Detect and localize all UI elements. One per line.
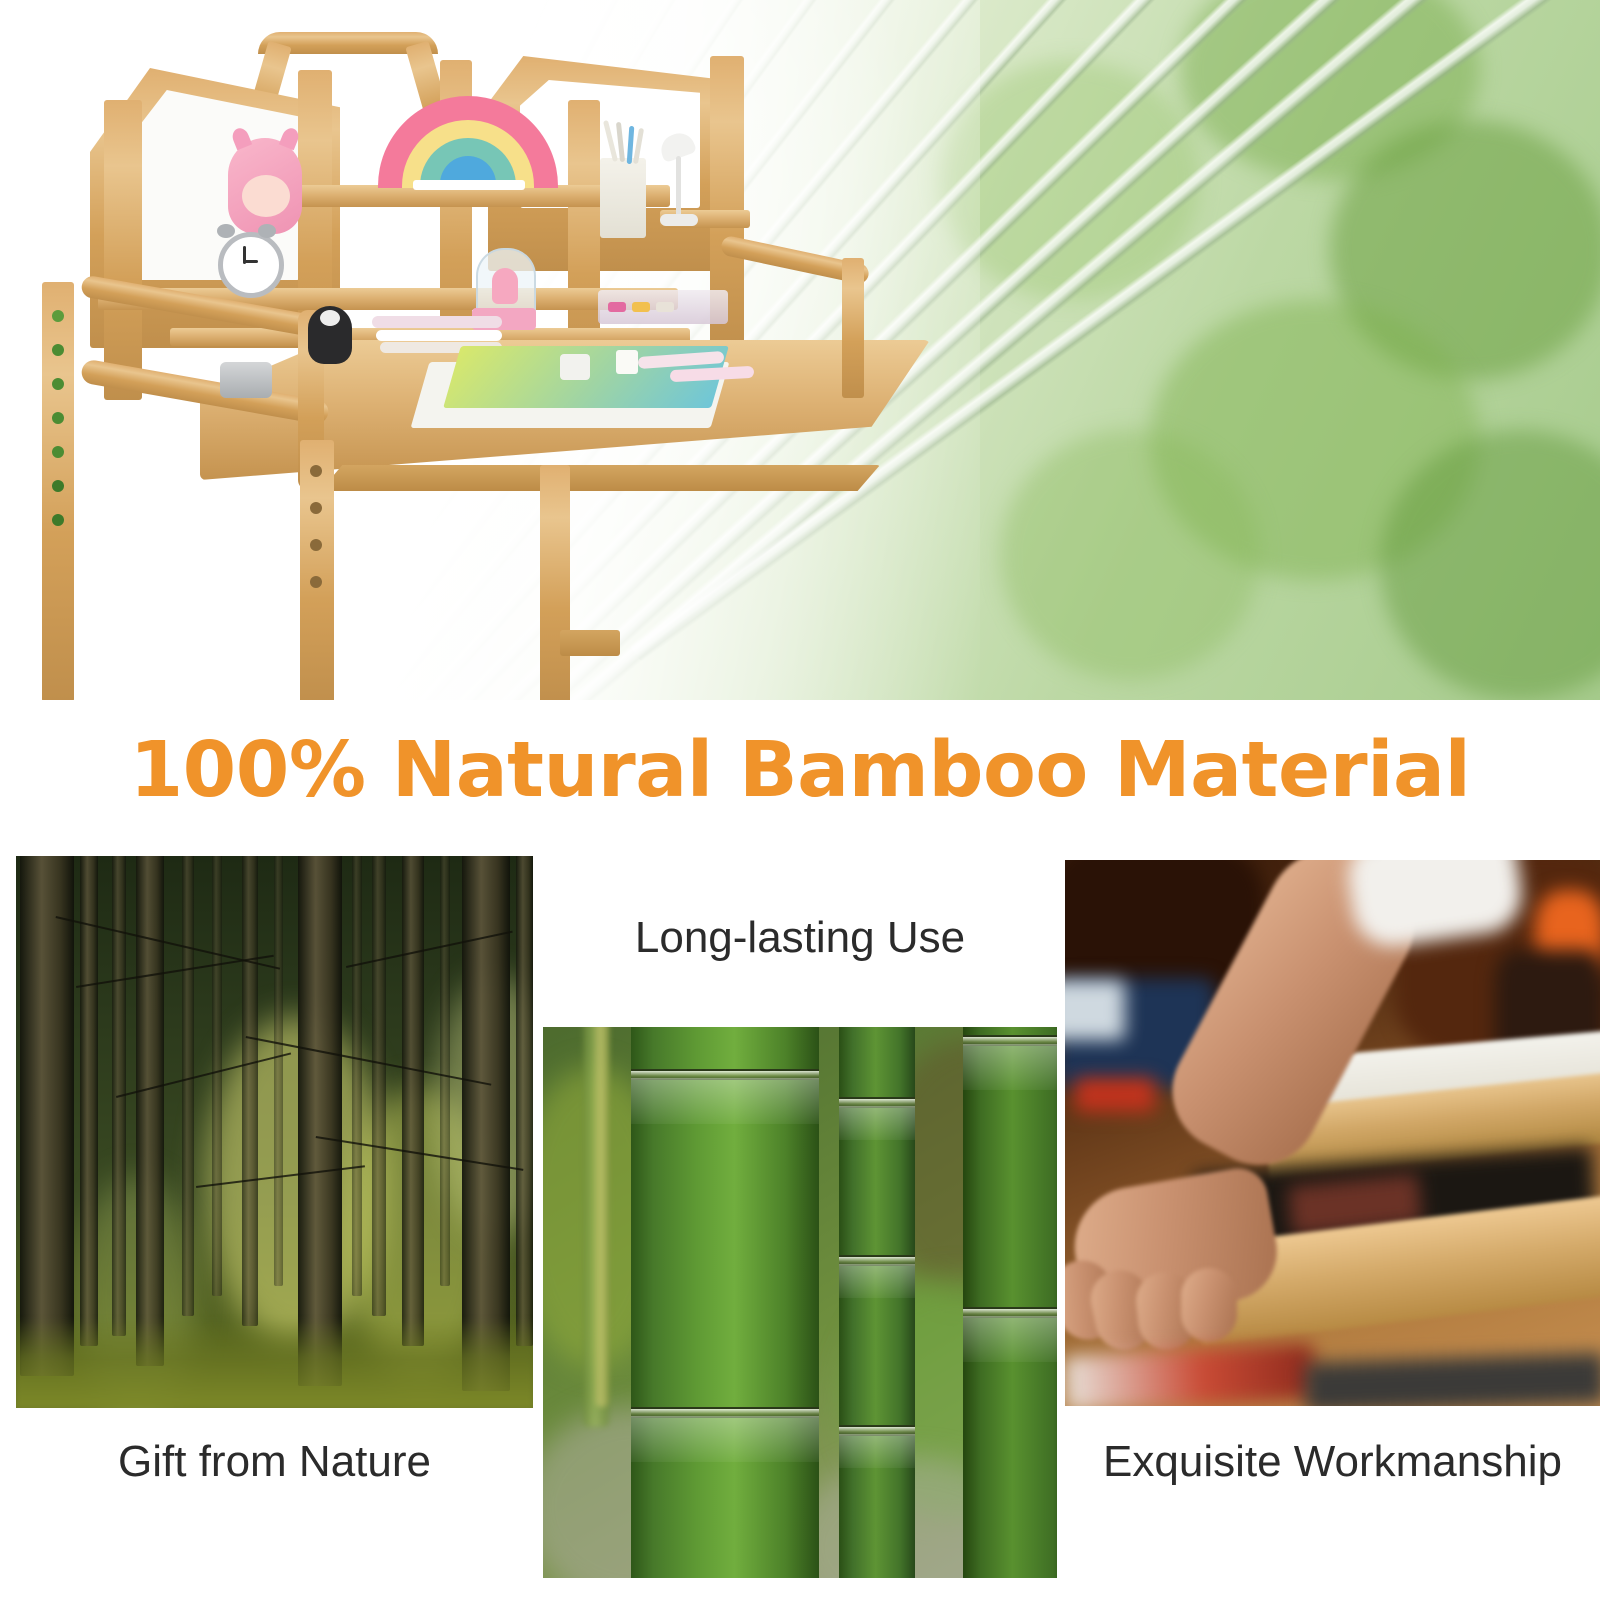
- height-adjust-hole: [52, 378, 64, 390]
- desk-right-rail-post: [842, 258, 864, 398]
- panel-long-lasting-use: [543, 1027, 1057, 1578]
- desk-left-post: [104, 100, 142, 400]
- bamboo-node-band: [839, 1434, 915, 1468]
- desk-cross-brace: [560, 630, 620, 656]
- pen-holder: [600, 158, 646, 238]
- book-illustration: [560, 354, 590, 380]
- bamboo-culm-right: [963, 1027, 1057, 1578]
- desk-leg-back-right: [540, 465, 570, 700]
- forest-trunk: [20, 856, 74, 1376]
- desk-lamp-base: [660, 214, 698, 226]
- bamboo-culm-middle: [839, 1027, 915, 1578]
- desk-top-edge: [320, 465, 880, 491]
- forest-trunk: [136, 856, 164, 1366]
- height-adjust-hole: [52, 310, 64, 322]
- caption-long-lasting-use: Long-lasting Use: [543, 916, 1057, 960]
- figurine-face: [242, 175, 290, 217]
- book-illustration: [616, 350, 638, 374]
- alarm-clock: [218, 232, 284, 298]
- supply-item: [656, 302, 674, 312]
- forest-trunk: [516, 856, 533, 1346]
- dome-doll: [492, 268, 518, 304]
- bamboo-node-band: [839, 1106, 915, 1140]
- caption-gift-from-nature: Gift from Nature: [16, 1440, 533, 1484]
- height-adjust-hole: [52, 514, 64, 526]
- panel-gift-from-nature: [16, 856, 533, 1408]
- height-adjust-hole: [52, 344, 64, 356]
- forest-trunk: [274, 856, 283, 1286]
- height-adjust-hole: [52, 446, 64, 458]
- bamboo-node-band: [839, 1264, 915, 1298]
- clock-bell: [258, 224, 276, 238]
- clock-hand-hour: [243, 260, 258, 263]
- height-adjust-hole: [310, 502, 322, 514]
- forest-trunk: [242, 856, 258, 1326]
- red-handle-tool: [1065, 1343, 1316, 1406]
- forest-trunk: [372, 856, 386, 1316]
- height-adjust-hole: [52, 412, 64, 424]
- panel-exquisite-workmanship: [1065, 860, 1600, 1406]
- marker-pen: [372, 316, 502, 328]
- height-adjust-hole: [310, 539, 322, 551]
- bamboo-node-band: [963, 1316, 1057, 1362]
- craftsman-finger: [1181, 1268, 1237, 1342]
- clock-bell: [217, 224, 235, 238]
- bamboo-culm-main: [631, 1027, 819, 1578]
- power-tool-label: [1075, 1078, 1155, 1112]
- forest-trunk: [298, 856, 342, 1386]
- supply-item: [632, 302, 650, 312]
- bamboo-study-desk: [20, 10, 970, 700]
- dark-tool-body: [1304, 1353, 1600, 1406]
- storage-can: [220, 362, 272, 398]
- forest-trunk: [80, 856, 98, 1346]
- forest-trunk: [352, 856, 362, 1296]
- forest-trunk: [402, 856, 424, 1346]
- marker-pen: [376, 330, 502, 341]
- page-title: 100% Natural Bamboo Material: [130, 732, 1471, 809]
- bamboo-node-band: [963, 1044, 1057, 1090]
- forest-trunk: [212, 856, 222, 1296]
- height-adjust-hole: [310, 465, 322, 477]
- supply-item: [608, 302, 626, 312]
- hero-image: [0, 0, 1600, 700]
- marketing-infographic: 100% Natural Bamboo Material: [0, 0, 1600, 1600]
- canopy-leaf-mass: [1000, 430, 1260, 680]
- forest-trunk: [440, 856, 450, 1286]
- forest-trunk: [182, 856, 194, 1316]
- height-adjust-hole: [52, 480, 64, 492]
- headline-band: 100% Natural Bamboo Material: [0, 700, 1600, 840]
- desk-lamp-arm: [676, 156, 681, 218]
- bamboo-node-band: [631, 1416, 819, 1462]
- bamboo-node-band: [631, 1078, 819, 1124]
- workshop-highlight: [1065, 980, 1125, 1040]
- desk-leg-front-right: [300, 440, 334, 700]
- height-adjust-hole: [310, 576, 322, 588]
- penguin-crown: [320, 310, 340, 326]
- caption-exquisite-workmanship: Exquisite Workmanship: [1065, 1440, 1600, 1484]
- forest-floor: [16, 1318, 533, 1408]
- rainbow-toy-base-gap: [413, 180, 525, 190]
- bamboo-background-stalk: [595, 1027, 609, 1407]
